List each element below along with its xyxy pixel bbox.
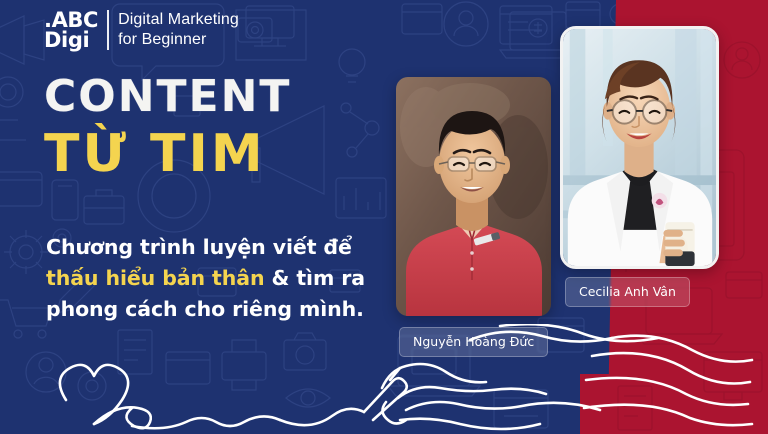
logo-mark-line1: .ABC xyxy=(44,10,98,30)
subtitle: Chương trình luyện viết để thấu hiểu bản… xyxy=(46,232,376,325)
headline: CONTENT TỪ TIM xyxy=(44,74,291,184)
brand-logo[interactable]: .ABC Digi Digital Marketing for Beginner xyxy=(44,10,239,50)
logo-tagline-line1: Digital Marketing xyxy=(118,10,239,30)
poster-canvas: .ABC Digi Digital Marketing for Beginner… xyxy=(0,0,768,434)
speaker-photo-duc xyxy=(396,77,551,316)
nameplate-duc: Nguyễn Hoàng Đức xyxy=(399,327,548,357)
logo-mark-line2: Digi xyxy=(44,30,98,50)
logo-tagline-line2: for Beginner xyxy=(118,30,239,50)
headline-line-content: CONTENT xyxy=(44,74,291,120)
subtitle-part1: Chương trình luyện viết để xyxy=(46,235,352,259)
subtitle-highlight: thấu hiểu bản thân xyxy=(46,266,264,290)
logo-tagline: Digital Marketing for Beginner xyxy=(118,10,239,50)
logo-mark: .ABC Digi xyxy=(44,10,98,50)
logo-divider xyxy=(107,10,109,50)
speaker-photo-van xyxy=(560,26,719,269)
headline-line-tutim: TỪ TIM xyxy=(44,124,291,184)
nameplate-van: Cecilia Anh Vân xyxy=(565,277,690,307)
